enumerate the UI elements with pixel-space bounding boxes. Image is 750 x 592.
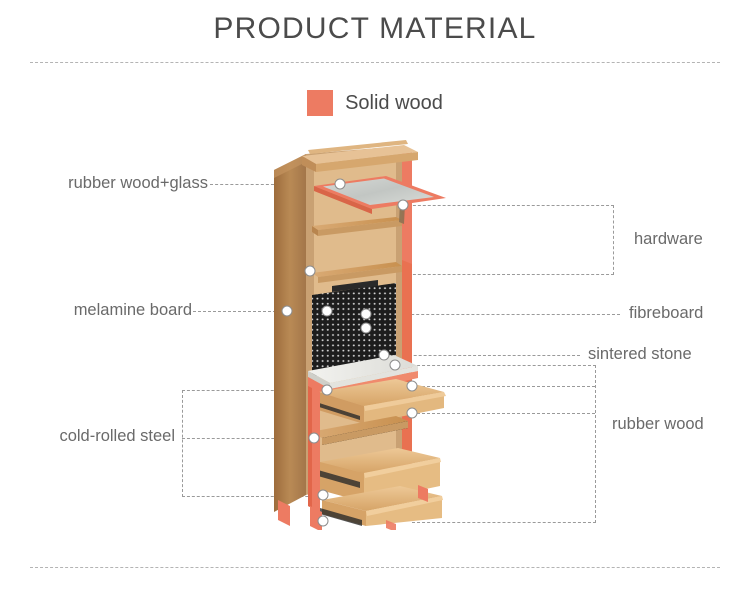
callout-label-hardware: hardware (634, 230, 703, 249)
legend-swatch-solid-wood (307, 90, 333, 116)
callout-label-cold-rolled-steel: cold-rolled steel (59, 427, 175, 446)
callout-label-rubber-wood-glass: rubber wood+glass (68, 174, 208, 193)
anchor-dot-pegboard-mid (322, 306, 333, 317)
anchor-dot-cold-rolled-steel-top (322, 385, 333, 396)
divider-bottom (30, 567, 720, 568)
anchor-dot-cold-rolled-steel-bottom (318, 490, 329, 501)
callout-label-rubber-wood: rubber wood (612, 415, 704, 434)
anchor-dot-rubber-wood-bottom (318, 516, 329, 527)
callout-label-sintered-stone: sintered stone (588, 345, 692, 364)
legend: Solid wood (0, 90, 750, 116)
product-material-infographic: PRODUCT MATERIAL Solid wood rubber wood+… (0, 0, 750, 592)
anchor-dot-pegboard-low (361, 323, 372, 334)
anchor-dot-fibreboard (361, 309, 372, 320)
anchor-dot-rubber-wood-glass (335, 179, 346, 190)
anchor-dot-rubber-wood-a (407, 381, 418, 392)
anchor-dot-hardware (398, 200, 409, 211)
anchor-dot-rubber-wood-b (407, 408, 418, 419)
anchor-dot-melamine-board (282, 306, 293, 317)
cabinet-left-side-panel (274, 154, 306, 512)
callout-label-melamine-board: melamine board (74, 301, 192, 320)
legend-label-solid-wood: Solid wood (345, 92, 443, 115)
page-title: PRODUCT MATERIAL (0, 12, 750, 46)
product-illustration (268, 140, 468, 530)
callout-label-fibreboard: fibreboard (629, 304, 703, 323)
anchor-dot-pegboard-top (305, 266, 316, 277)
anchor-dot-sintered-stone (379, 350, 390, 361)
divider-top (30, 62, 720, 63)
anchor-dot-cold-rolled-steel-mid (309, 433, 320, 444)
anchor-dot-rubber-wood-top (390, 360, 401, 371)
